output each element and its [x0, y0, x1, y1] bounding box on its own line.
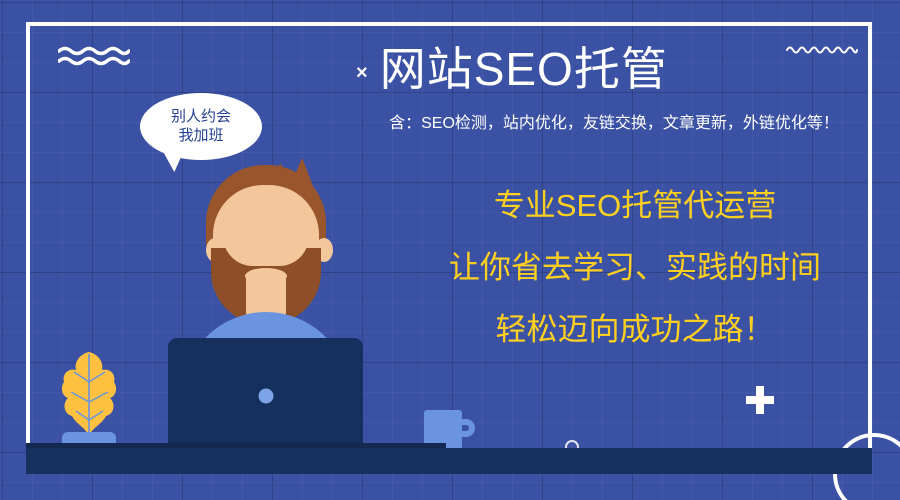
desk-surface	[26, 448, 872, 474]
potted-plant-icon	[58, 348, 120, 440]
title-row: × 网站SEO托管	[330, 44, 890, 95]
plus-icon	[746, 386, 774, 414]
laptop-icon	[168, 338, 363, 453]
title-bullet-icon: ×	[356, 63, 368, 83]
seo-hosting-banner: × 网站SEO托管 含：SEO检测，站内优化，友链交换，文章更新，外链优化等！ …	[0, 0, 900, 500]
speech-bubble: 别人约会 我加班	[140, 93, 262, 160]
page-subtitle: 含：SEO检测，站内优化，友链交换，文章更新，外链优化等！	[330, 109, 890, 133]
face	[223, 206, 309, 266]
slogan-list: 专业SEO托管代运营 让你省去学习、实践的时间 轻松迈向成功之路！	[400, 190, 870, 345]
page-title: 网站SEO托管	[380, 44, 668, 95]
laptop-logo-dot	[258, 388, 273, 403]
slogan-line: 专业SEO托管代运营	[400, 190, 870, 221]
slogan-line: 轻松迈向成功之路！	[400, 314, 870, 345]
wave-lines-icon	[58, 46, 130, 66]
title-block: × 网站SEO托管 含：SEO检测，站内优化，友链交换，文章更新，外链优化等！	[330, 44, 890, 133]
speech-bubble-line-1: 别人约会	[171, 108, 231, 127]
speech-bubble-line-2: 我加班	[178, 127, 223, 146]
slogan-line: 让你省去学习、实践的时间	[400, 252, 870, 283]
